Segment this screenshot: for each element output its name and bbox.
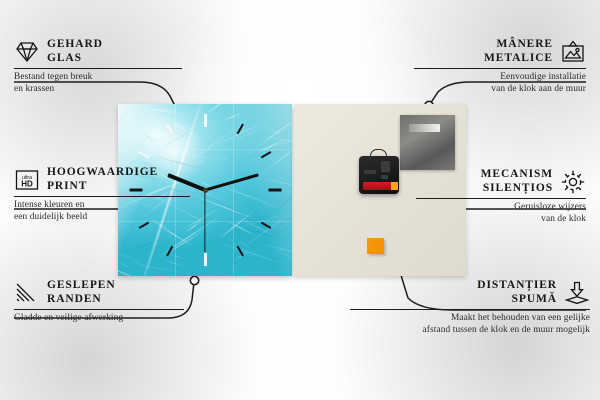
callout-title-line1: GESLEPEN [47,279,116,293]
callout-subtitle-line1: Eenvoudige installatie [412,72,586,84]
movement-hanger [370,149,387,159]
callout-subtitle-line2: van de klok aan de muur [412,84,586,96]
callout-rule [416,198,586,199]
movement-detail [381,175,388,179]
callout-subtitle-line1: Geruisloze wijzers [414,202,586,214]
callout-rule [414,68,586,69]
clock-hour-marker [204,114,207,127]
glass-seam [233,104,234,276]
callout-rule [350,309,590,310]
clock-center-hub [203,188,208,193]
callout-title-line2: SILENȚIOS [481,182,553,196]
callout-subtitle-line1: Intense kleuren en [14,200,192,212]
callout-title-line1: MÂNERE [484,38,553,52]
callout-rule [14,68,182,69]
callout-title-line2: GLAS [47,52,103,66]
callout-mecanism-silentios: MECANISM SILENȚIOS Geruisloze wijzers va… [414,168,586,226]
callout-title-line1: DISTANȚIER [477,279,557,293]
callout-distantier-spuma: DISTANȚIER SPUMĂ Maakt het behouden van … [348,279,590,337]
callout-gehard-glas: GEHARD GLAS Bestand tegen breuk en krass… [14,38,184,96]
callout-title-line2: RANDEN [47,293,116,307]
callout-rule [14,309,184,310]
callout-title-line2: PRINT [47,180,158,194]
picture-frame-icon [560,39,586,65]
callout-rule [14,196,190,197]
foam-spacer-icon [564,280,590,306]
callout-title-line1: HOOGWAARDIGE [47,166,158,180]
beveled-edges-icon [14,280,40,306]
callout-hoogwaardige-print: ultra HD HOOGWAARDIGE PRINT Intense kleu… [14,166,192,224]
infographic-canvas: GEHARD GLAS Bestand tegen breuk en krass… [0,0,600,400]
callout-subtitle-line2: en krassen [14,84,184,96]
metal-hanger-swatch [400,115,455,170]
clock-movement [359,156,399,194]
hanger-slot [409,124,440,132]
glass-seam [118,149,292,150]
callout-subtitle-line2: van de klok [414,214,586,226]
callout-subtitle-line2: een duidelijk beeld [14,212,192,224]
svg-text:HD: HD [21,179,33,188]
callout-subtitle-line1: Maakt het behouden van een gelijke [348,313,590,325]
clock-hour-marker [268,189,281,192]
callout-subtitle-line2: afstand tussen de klok en de muur mogeli… [348,325,590,337]
gear-icon [560,169,586,195]
movement-detail [364,170,376,174]
callout-title-line1: MECANISM [481,168,553,182]
foam-spacer [367,238,384,254]
callout-title-line2: METALICE [484,52,553,66]
callout-subtitle-line1: Gladde en veilige afwerking [14,313,186,325]
clock-hour-marker [204,253,207,266]
callout-title-line2: SPUMĂ [477,293,557,307]
callout-title-line1: GEHARD [47,38,103,52]
callout-subtitle-line1: Bestand tegen breuk [14,72,184,84]
callout-geslepen-randen: GESLEPEN RANDEN Gladde en veilige afwerk… [14,279,186,325]
battery [363,182,395,190]
battery-terminal [391,182,398,190]
ultra-hd-icon: ultra HD [14,167,40,193]
callout-manere-metalice: MÂNERE METALICE Eenvoudige installatie v… [412,38,586,96]
movement-detail [381,161,390,172]
diamond-icon [14,39,40,65]
